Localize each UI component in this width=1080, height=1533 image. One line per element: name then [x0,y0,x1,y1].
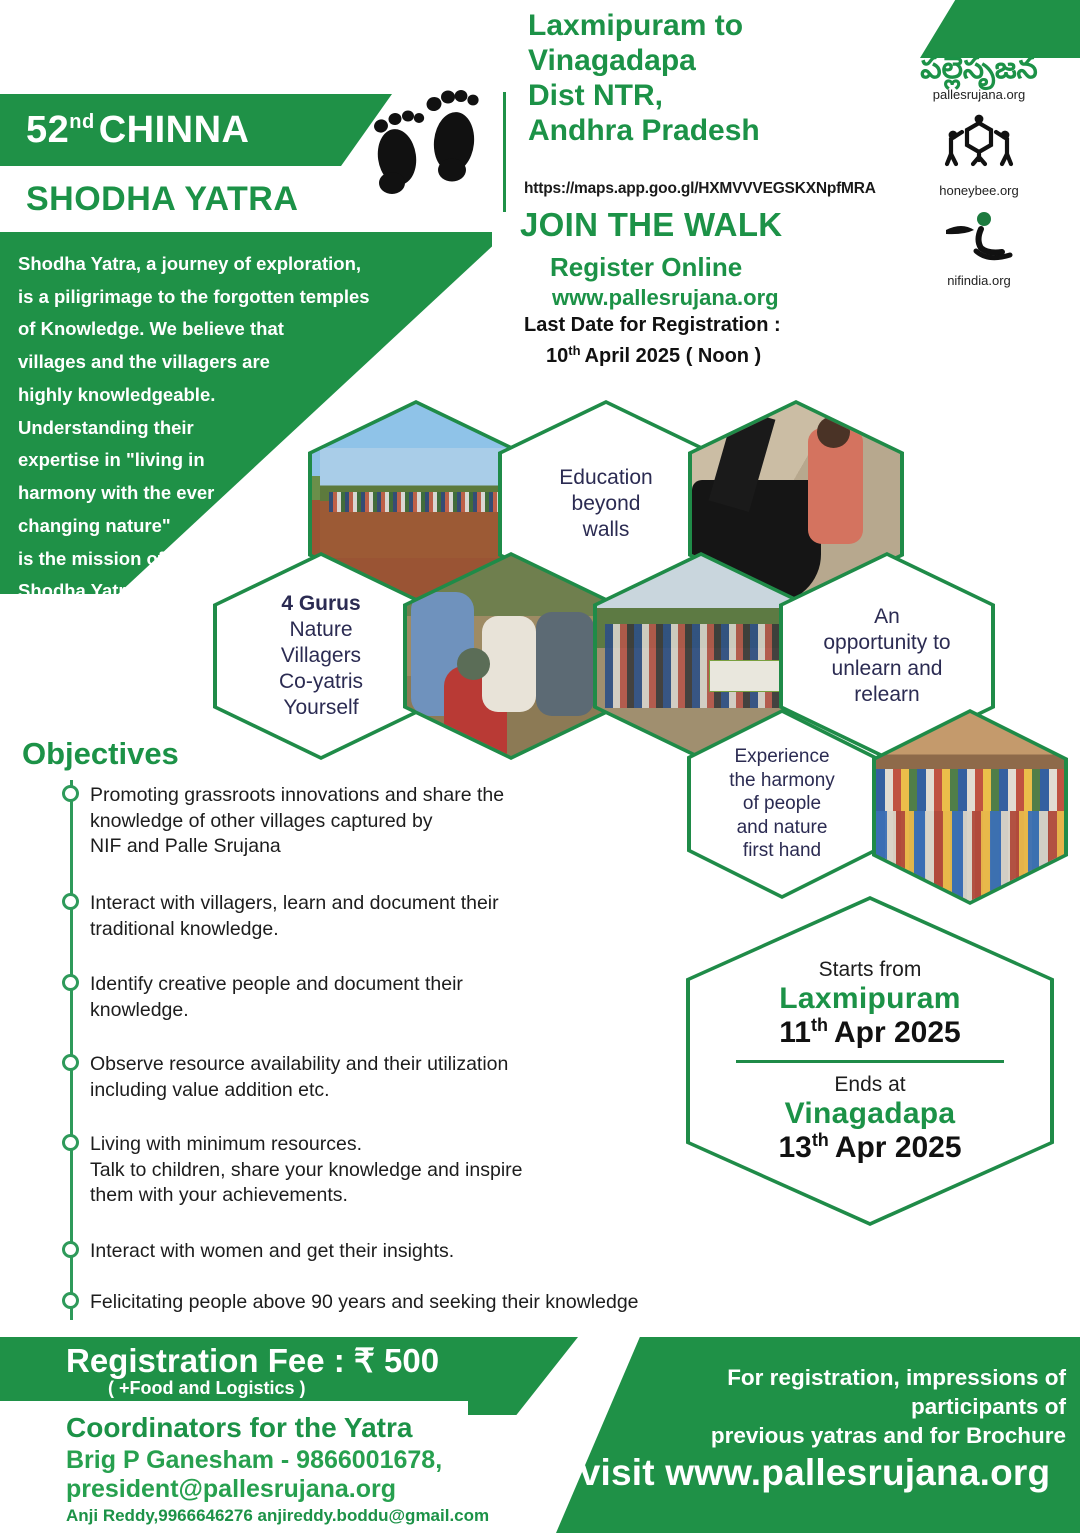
dates-content: Starts from Laxmipuram 11thApr 2025 Ends… [690,954,1050,1169]
edition-banner-text: 52ndCHINNA [0,109,250,152]
end-place: Vinagadapa [718,1097,1022,1131]
start-date-rest: Apr 2025 [834,1016,961,1050]
nifindia-figure-logo [884,210,1074,271]
page-title: SHODHA YATRA [26,180,298,219]
objective-line: Interact with villagers, learn and docum… [90,891,600,917]
hex-label-education: Education beyond walls [559,465,652,543]
objective-line: Felicitating people above 90 years and s… [90,1290,730,1316]
objective-line: Living with minimum resources. [90,1132,600,1158]
end-date-day: 13 [778,1131,811,1165]
registration-website-link[interactable]: www.pallesrujana.org [552,285,779,311]
hex-line: opportunity to [823,630,950,656]
pallesrujana-telugu-logo: పల్లెసృజన [884,52,1074,85]
hex-dates: Starts from Laxmipuram 11thApr 2025 Ends… [686,896,1054,1226]
objective-bullet-icon [62,974,79,991]
objective-line: Promoting grassroots innovations and sha… [90,783,600,809]
hex-line: of people [729,792,835,816]
objective-line: Observe resource availability and their … [90,1052,600,1078]
objective-item: Felicitating people above 90 years and s… [90,1290,730,1316]
last-date-label: Last Date for Registration : [524,314,781,337]
objective-line: Interact with women and get their insigh… [90,1239,600,1265]
hex-line: the harmony [729,769,835,793]
coordinator-primary: Brig P Ganesham - 9866001678, [66,1446,442,1475]
footprints-icon [355,82,485,202]
hex-line: Yourself [279,695,363,721]
hex-line: walls [559,517,652,543]
hex-line: Villagers [279,643,363,669]
honeybee-people-hexagon-logo [884,114,1074,181]
coordinator-secondary[interactable]: Anji Reddy,9966646276 anjireddy.boddu@gm… [66,1506,489,1526]
route-line-1: Laxmipuram to [528,8,948,43]
hex-line: and nature [729,816,835,840]
objective-bullet-icon [62,1054,79,1071]
objective-line: traditional knowledge. [90,917,600,943]
header-divider [503,92,506,212]
objective-item: Living with minimum resources. Talk to c… [90,1132,600,1209]
objective-item: Interact with villagers, learn and docum… [90,891,600,942]
objective-item: Interact with women and get their insigh… [90,1239,600,1265]
honeybee-caption: honeybee.org [884,183,1074,198]
objectives-heading: Objectives [22,736,179,772]
last-date-rest: April 2025 ( Noon ) [585,345,762,368]
hex-line: relearn [823,682,950,708]
hex-line: beyond [559,491,652,517]
footer-right-line: participants of [640,1393,1066,1422]
edition-word: CHINNA [99,109,250,152]
registration-fee-text: Registration Fee : ₹ 500 [66,1341,439,1380]
footer-right-text: For registration, impressions of partici… [640,1364,1066,1450]
hex-label-unlearn: An opportunity to unlearn and relearn [823,604,950,708]
poster-root: 52ndCHINNA SHODHA YATRA [0,0,1080,1533]
story-line: of Knowledge. We believe that [18,313,418,346]
objective-bullet-icon [62,1134,79,1151]
objective-line: knowledge of other villages captured by [90,809,600,835]
start-date-day: 11 [779,1016,811,1050]
registration-fee-note: ( +Food and Logistics ) [108,1378,306,1399]
objective-bullet-icon [62,1292,79,1309]
objective-line: knowledge. [90,998,600,1024]
hex-line: unlearn and [823,656,950,682]
objective-line: them with your achievements. [90,1183,600,1209]
end-date: 13thApr 2025 [718,1131,1022,1165]
hex-label-harmony: Experience the harmony of people and nat… [729,745,835,863]
footer-right-line: For registration, impressions of [640,1364,1066,1393]
last-date-ordinal-suffix: th [568,343,580,358]
objective-item: Observe resource availability and their … [90,1052,600,1103]
last-date-day: 10 [546,345,568,368]
last-date-value: 10thApril 2025 ( Noon ) [546,345,761,368]
objective-line: Identify creative people and document th… [90,972,600,998]
edition-ordinal-suffix: nd [69,111,94,134]
coordinator-primary-email[interactable]: president@pallesrujana.org [66,1475,396,1504]
objective-line: including value addition etc. [90,1078,600,1104]
hex-label-four-gurus: 4 Gurus Nature Villagers Co-yatris Yours… [279,591,363,721]
hex-line-bold: 4 Gurus [279,591,363,617]
edition-banner: 52ndCHINNA [0,94,392,166]
objective-item: Promoting grassroots innovations and sha… [90,783,600,860]
coordinators-heading: Coordinators for the Yatra [66,1412,412,1444]
start-date-suffix: th [811,1015,828,1036]
join-the-walk-headline: JOIN THE WALK [520,206,782,244]
logo-column: పల్లెసృజన pallesrujana.org honeybee.org [884,52,1074,288]
footer-visit-link[interactable]: visit www.pallesrujana.org [556,1452,1074,1494]
objective-bullet-icon [62,785,79,802]
objective-bullet-icon [62,893,79,910]
objective-item: Identify creative people and document th… [90,972,600,1023]
objective-line: NIF and Palle Srujana [90,834,600,860]
nifindia-caption: nifindia.org [884,273,1074,288]
register-online-label: Register Online [550,252,742,283]
hex-inner: Starts from Laxmipuram 11thApr 2025 Ends… [690,900,1050,1222]
footer-right-line: previous yatras and for Brochure [640,1422,1066,1451]
hex-line: first hand [729,839,835,863]
story-line: villages and the villagers are [18,346,418,379]
end-date-suffix: th [812,1130,829,1151]
story-line: is a piligrimage to the forgotten temple… [18,281,418,314]
starts-from-label: Starts from [718,958,1022,982]
story-line: Shodha Yatra, a journey of exploration, [18,248,418,281]
objective-bullet-icon [62,1241,79,1258]
dates-divider [736,1060,1004,1063]
end-date-rest: Apr 2025 [835,1131,962,1165]
objective-line: Talk to children, share your knowledge a… [90,1158,600,1184]
objectives-timeline-line [70,780,73,1320]
ends-at-label: Ends at [718,1073,1022,1097]
maps-link[interactable]: https://maps.app.goo.gl/HXMVVVEGSKXNpfMR… [524,180,876,198]
hex-line: Education [559,465,652,491]
hex-line: Co-yatris [279,669,363,695]
edition-number: 52 [26,109,69,152]
hex-line: An [823,604,950,630]
start-date: 11thApr 2025 [718,1016,1022,1050]
pallesrujana-caption: pallesrujana.org [884,87,1074,102]
start-place: Laxmipuram [718,982,1022,1016]
hex-line: Nature [279,617,363,643]
story-line: highly knowledgeable. [18,379,418,412]
hex-line: Experience [729,745,835,769]
footer-wedge-decoration [468,1337,578,1415]
